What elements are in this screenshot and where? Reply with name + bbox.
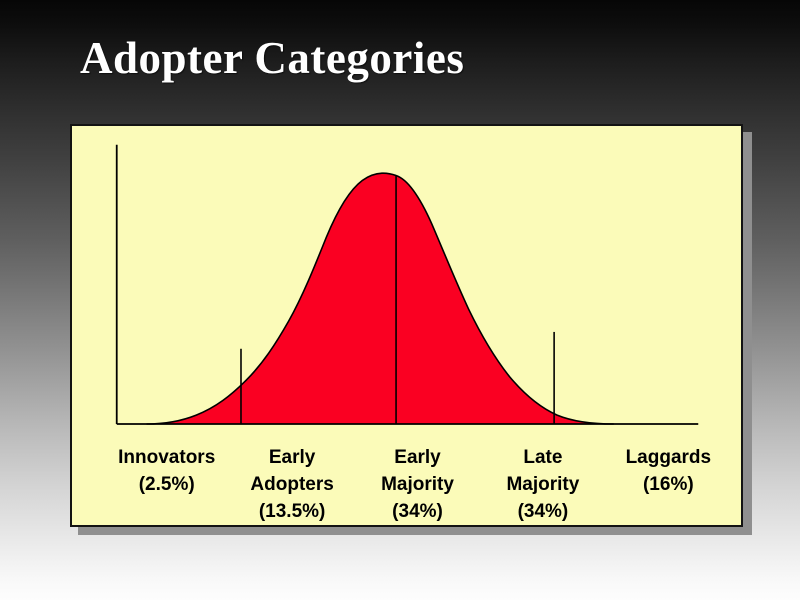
category-label-early-adopters: Early Adopters (13.5%): [229, 444, 354, 525]
category-line-2: (16%): [606, 471, 731, 498]
category-line-3: (13.5%): [229, 498, 354, 525]
category-line-1: Late: [480, 444, 605, 471]
category-label-laggards: Laggards (16%): [606, 444, 731, 498]
page-title: Adopter Categories: [80, 32, 464, 84]
category-label-row: Innovators (2.5%) Early Adopters (13.5%)…: [72, 444, 741, 525]
bell-curve-area: [147, 173, 614, 424]
slide: Adopter Categories Innovators (2.5%): [0, 0, 800, 600]
category-line-2: (2.5%): [104, 471, 229, 498]
category-line-2: Adopters: [229, 471, 354, 498]
category-label-innovators: Innovators (2.5%): [104, 444, 229, 498]
chart-panel: Innovators (2.5%) Early Adopters (13.5%)…: [70, 124, 743, 527]
category-line-1: Early: [355, 444, 480, 471]
category-label-early-majority: Early Majority (34%): [355, 444, 480, 525]
category-line-2: Majority: [480, 471, 605, 498]
category-line-3: (34%): [355, 498, 480, 525]
category-line-1: Early: [229, 444, 354, 471]
category-line-2: Majority: [355, 471, 480, 498]
category-line-1: Innovators: [104, 444, 229, 471]
category-line-3: (34%): [480, 498, 605, 525]
category-label-late-majority: Late Majority (34%): [480, 444, 605, 525]
category-line-1: Laggards: [606, 444, 731, 471]
